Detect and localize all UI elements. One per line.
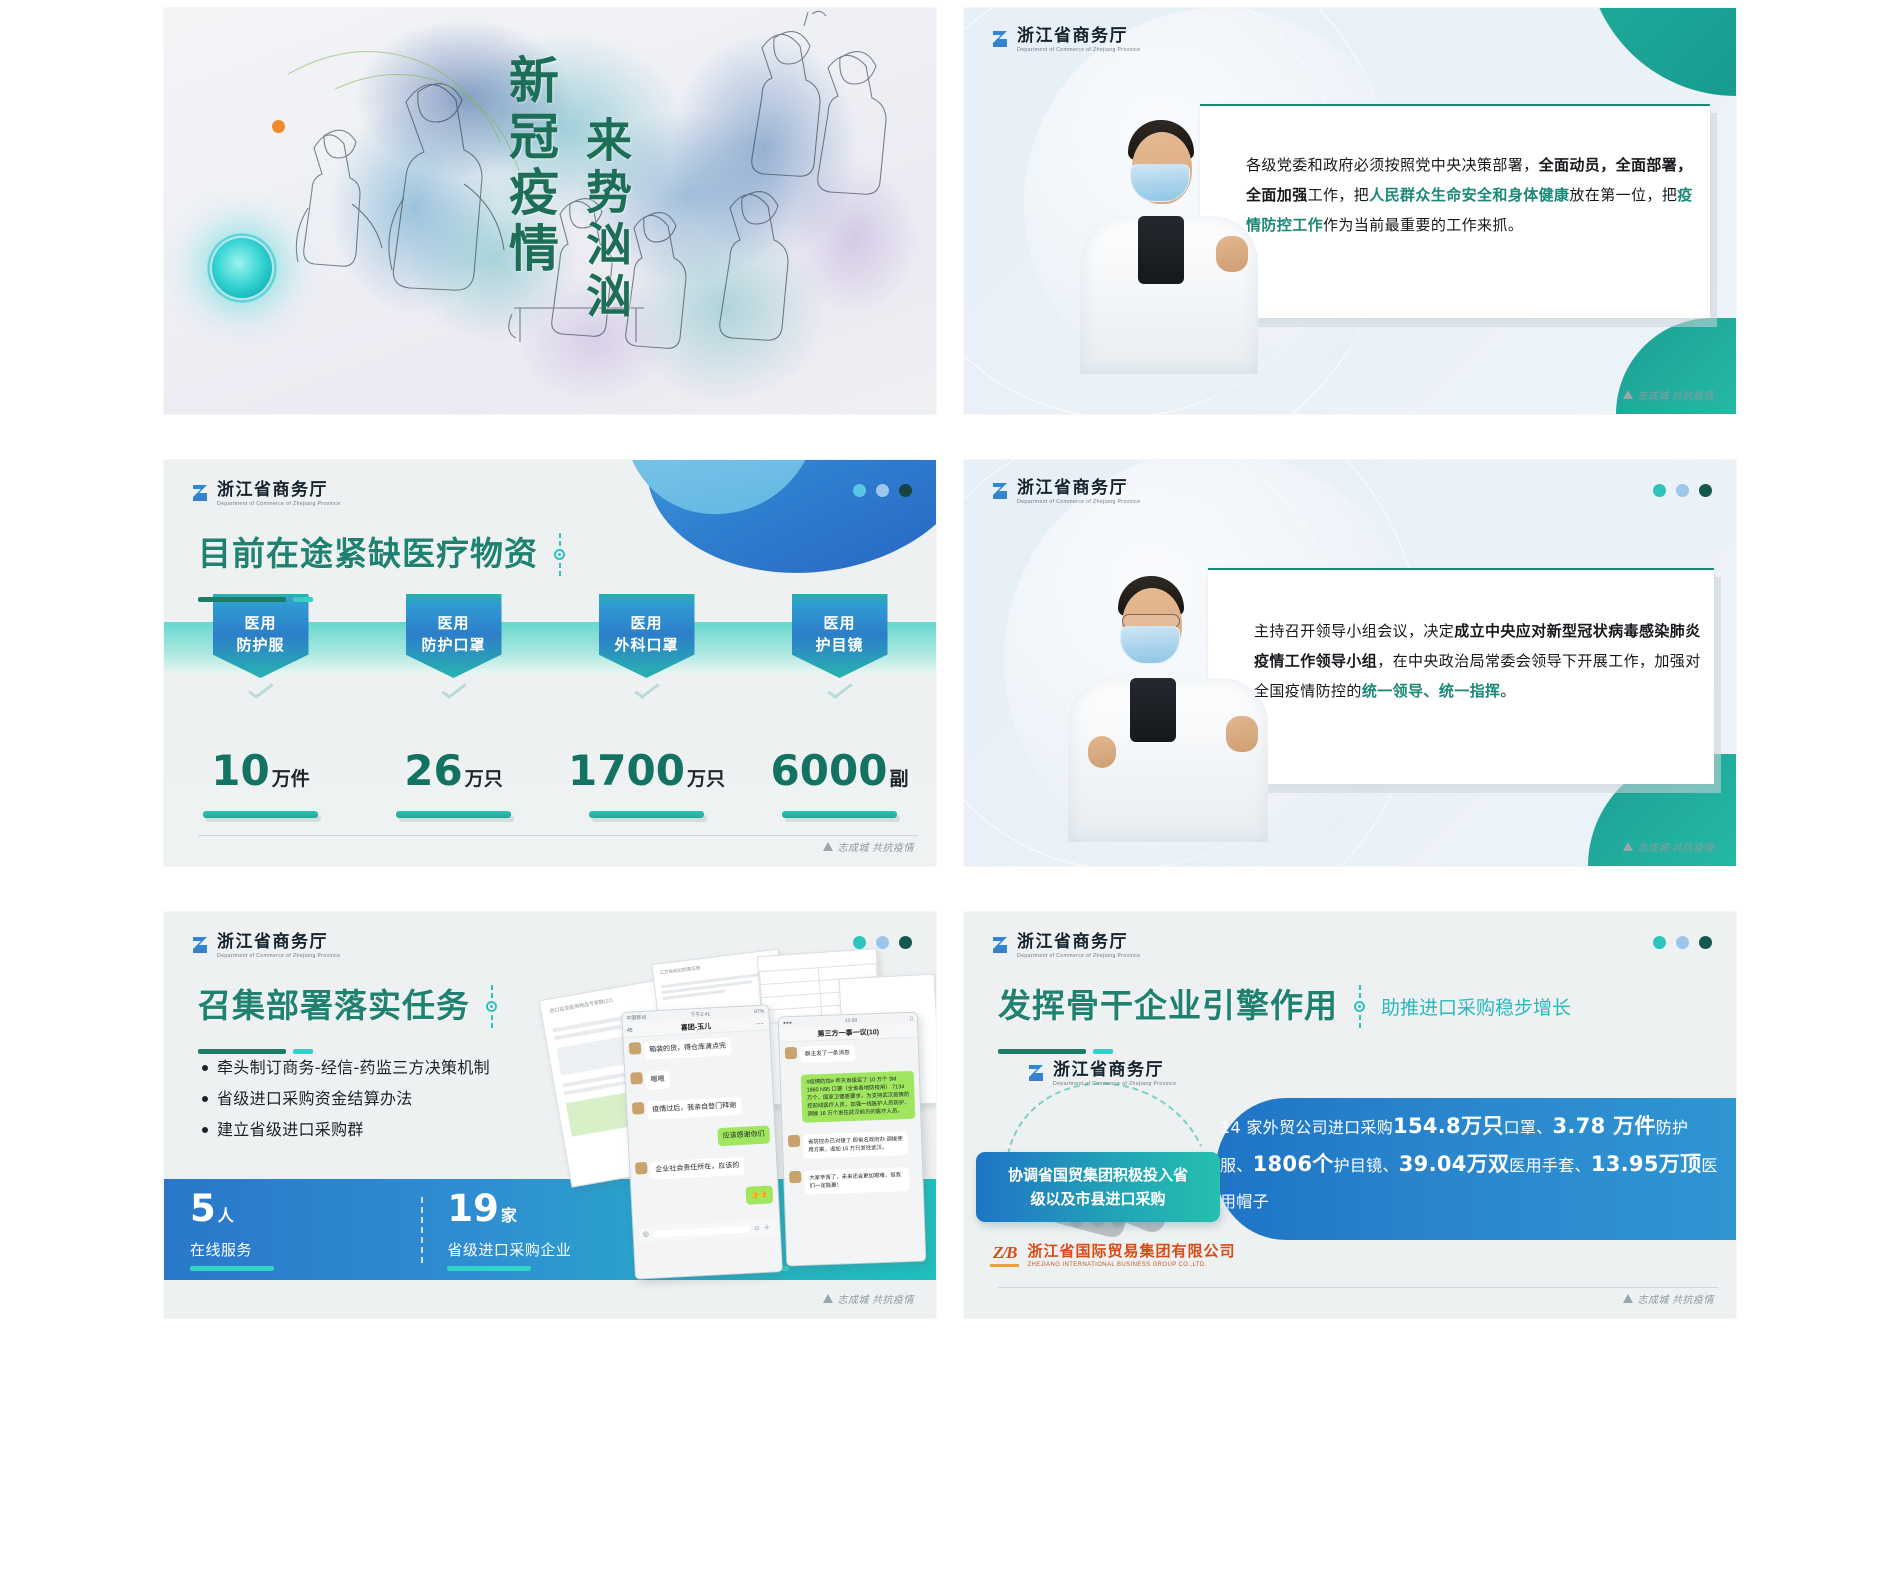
dot-3 [1699,936,1712,949]
logo-title-cn: 浙江省商务厅 [1017,932,1140,951]
footer-badge-text: 志成城 共抗疫情 [1638,1291,1715,1306]
stat-label: 在线服务 [190,1239,421,1260]
supply-tag-row: 医用 防护服 医用 防护口罩 医用 外科口罩 [164,594,936,694]
slide-tasks[interactable]: 浙江省商务厅 Department of Commerce of Zhejian… [164,912,936,1318]
tag-line1: 医用 [599,612,695,634]
chat-bubble: 箱装的货，得仓库清点完 [644,1037,732,1060]
text-segment: 154.8万只 [1393,1118,1504,1137]
list-item: #疫情防控# 昨天省级定了 10 万个 3M 1860 N95 口罩（全省各地防… [786,1071,916,1129]
text-segment: 各级党委和政府必须按照党中央决策部署， [1246,156,1539,174]
footer-badge-text: 志成城 共抗疫情 [838,839,915,854]
text-segment: 主持召开领导小组会议，决定 [1254,622,1454,640]
logo-title-cn: 浙江省商务厅 [1053,1060,1176,1079]
page-dots [853,484,912,497]
chat-bubble: 群主发了一条消息 [800,1045,855,1063]
page-title: 目前在途紧缺医疗物资 [198,522,565,602]
footer-badge: 志成城 共抗疫情 [823,1291,915,1306]
chat-contact-name: 第三方一事一议(10) [817,1026,879,1038]
footer-divider [998,1287,1718,1288]
footer-badge: 志成城 共抗疫情 [1623,839,1715,854]
logo-title-en: Department of Commerce of Zhejiang Provi… [1053,1081,1176,1087]
text-segment: 放在第一位，把 [1569,186,1677,204]
text-segment: 3.78 万件 [1552,1118,1655,1137]
text-segment: 人民群众生命安全和身体健康 [1369,186,1569,204]
chat-input-bar[interactable]: ◎ ☺ ＋ [638,1219,775,1242]
triangle-icon [1623,1294,1633,1303]
brand-logo-secondary: 浙江省商务厅 Department of Commerce of Zhejian… [1026,1060,1176,1087]
logo-title-en: Department of Commerce of Zhejiang Provi… [1017,499,1140,505]
chat-message-list: 群主发了一条消息 #疫情防控# 昨天省级定了 10 万个 3M 1860 N95… [780,1038,927,1267]
supply-stat: 10 万件 [164,748,357,818]
text-segment: 13.95万顶 [1591,1156,1702,1175]
footer-badge-text: 志成城 共抗疫情 [1638,387,1715,402]
text-segment: 工作，把 [1308,186,1370,204]
chevron-down-icon [441,679,467,698]
callout-line2: 级以及市县进口采购 [986,1187,1210,1211]
chat-message-list: 箱装的货，得仓库清点完 嗯嗯 疫情过后，我亲自登门拜谢 应该感谢你们 [623,1030,782,1279]
stats-panel-text: 14 家外贸公司进口采购154.8万只口罩、3.78 万件防护服、1806个护目… [1220,1108,1718,1220]
dot-1 [1653,484,1666,497]
triangle-icon [823,842,833,851]
stat-number: 5 [190,1189,216,1229]
callout-line1: 协调省国贸集团积极投入省 [986,1163,1210,1187]
list-item: 箱装的货，得仓库清点完 [629,1036,766,1067]
list-item: 省级进口采购资金结算办法 [200,1083,490,1114]
stat-unit: 家 [501,1196,517,1236]
more-options-icon[interactable]: ··· [756,1019,764,1028]
dot-3 [899,484,912,497]
logo-title-cn: 浙江省商务厅 [217,932,340,951]
footer-divider [198,835,918,836]
heading-text: 目前在途紧缺医疗物资 [198,535,538,573]
quote-text: 各级党委和政府必须按照党中央决策部署，全面动员，全面部署，全面加强工作，把人民群… [1246,150,1696,240]
status-carrier: 中国移动 [626,1014,646,1022]
supply-tag[interactable]: 医用 防护口罩 [357,594,550,694]
heading-underline [198,597,565,602]
stat-number: 10 [211,748,269,794]
chat-bubble: 疫情过后，我亲自登门拜谢 [647,1097,742,1120]
stat-underline [447,1266,531,1271]
chat-contact-name: 喜团-玉儿 [681,1021,712,1033]
zib-mark-icon: Z/B [990,1242,1019,1267]
chat-input[interactable] [653,1225,750,1237]
stat-unit: 人 [218,1196,234,1236]
heading-divider-icon [1354,974,1365,1038]
text-segment: 统一领导、统一指挥 [1362,682,1501,700]
slide-quote-xi[interactable]: 浙江省商务厅 Department of Commerce of Zhejian… [964,8,1736,414]
footer-badge: 志成城 共抗疫情 [1623,1291,1715,1306]
logo-title-en: Department of Commerce of Zhejiang Provi… [217,501,340,507]
task-bullet-list: 牵头制订商务-经信-药监三方决策机制 省级进口采购资金结算办法 建立省级进口采购… [200,1052,490,1145]
screenshot-stack[interactable]: 进口应急医用物品专家群(22) 三方会商机制落实表 [546,950,936,1280]
status-time: 下午2:41 [690,1010,710,1018]
footer-badge-text: 志成城 共抗疫情 [838,1291,915,1306]
brand-logo: 浙江省商务厅 Department of Commerce of Zhejian… [190,480,340,507]
zhejiang-commerce-logo-icon [990,480,1010,502]
text-segment: 作为当前最重要的工作来抓。 [1323,216,1523,234]
list-item: 大家辛苦了，未来还会更加艰难，但我们一定能赢！ [789,1167,918,1201]
chat-bubble: 企业社会责任所在，应该的 [650,1157,745,1180]
supply-tag[interactable]: 医用 防护服 [164,594,357,694]
dot-1 [1653,936,1666,949]
stat-underline [589,811,704,818]
chat-screenshot-main[interactable]: 中国移动 下午2:41 97% 45 喜团-玉儿 ··· 箱装的货，得仓库清点完 [621,1004,783,1279]
zhejiang-commerce-logo-icon [990,934,1010,956]
emoji-icon[interactable]: ☺ [753,1225,761,1232]
stat-unit: 万只 [465,756,503,802]
chat-bubble: 嗯嗯 [645,1071,670,1090]
stat-number: 6000 [771,748,888,794]
voice-icon[interactable]: ◎ [643,1230,650,1238]
logo-title-en: Department of Commerce of Zhejiang Provi… [217,953,340,959]
dot-3 [899,936,912,949]
tag-line1: 医用 [792,612,888,634]
slide-quote-li[interactable]: 浙江省商务厅 Department of Commerce of Zhejian… [964,460,1736,866]
dot-2 [1676,936,1689,949]
dot-1 [853,936,866,949]
text-segment: 护目镜、 [1334,1156,1399,1175]
back-button[interactable]: 45 [627,1027,633,1033]
dot-2 [876,484,889,497]
avatar [789,1171,801,1183]
heading-divider-icon [554,522,565,586]
tag-line2: 防护口罩 [406,634,502,656]
orange-dot-icon [272,120,285,133]
dot-2 [1676,484,1689,497]
tag-line2: 护目镜 [792,634,888,656]
logo-title-en: Department of Commerce of Zhejiang Provi… [1017,953,1140,959]
list-item: 嗯嗯 [630,1066,767,1097]
list-item: 👍👍 [637,1185,774,1216]
supply-stat: 26 万只 [357,748,550,818]
partner-logo-cn: 浙江省国际贸易集团有限公司 [1027,1240,1235,1261]
page-dots [853,936,912,949]
stat-underline [782,811,897,818]
text-segment: 口罩、 [1504,1118,1553,1137]
supply-tag[interactable]: 医用 护目镜 [743,594,936,694]
chat-bubble: 大家辛苦了，未来还会更加艰难，但我们一定能赢！ [804,1167,910,1195]
status-battery: 97% [754,1008,764,1015]
slide-engine[interactable]: 浙江省商务厅 Department of Commerce of Zhejian… [964,912,1736,1318]
logo-title-cn: 浙江省商务厅 [1017,26,1140,45]
logo-title-en: Department of Commerce of Zhejiang Provi… [1017,47,1140,53]
supply-stat-row: 10 万件 26 万只 1700 万只 [164,748,936,818]
chevron-down-icon [248,679,274,698]
logo-title-cn: 浙江省商务厅 [217,480,340,499]
corner-accent-top-right [1586,8,1736,96]
list-item: 疫情过后，我亲自登门拜谢 [632,1096,769,1127]
brand-logo: 浙江省商务厅 Department of Commerce of Zhejian… [990,932,1140,959]
virus-icon [212,238,272,298]
dot-2 [876,936,889,949]
partner-logo-en: ZHEJIANG INTERNATIONAL BUSINESS GROUP CO… [1027,1262,1235,1268]
tag-line1: 医用 [406,612,502,634]
dot-3 [1699,484,1712,497]
footer-badge: 志成城 共抗疫情 [1623,387,1715,402]
slide-supplies[interactable]: 浙江省商务厅 Department of Commerce of Zhejian… [164,460,936,866]
zhejiang-commerce-logo-icon [1026,1062,1046,1084]
text-segment: 。 [1500,682,1515,700]
text-segment: 医用手套、 [1509,1156,1591,1175]
supply-tag[interactable]: 医用 外科口罩 [550,594,743,694]
list-item: 牵头制订商务-经信-药监三方决策机制 [200,1052,490,1083]
page-title: 召集部署落实任务 [198,974,497,1054]
callout-box: 协调省国贸集团积极投入省 级以及市县进口采购 [976,1152,1220,1222]
heading-underline [198,1049,497,1054]
avatar [630,1072,643,1085]
heading-text: 召集部署落实任务 [198,987,470,1025]
speaker-portrait [1074,120,1264,370]
brand-logo: 浙江省商务厅 Department of Commerce of Zhejian… [990,26,1140,53]
stat-cell: 5 人 在线服务 [164,1189,421,1271]
speaker-portrait [1068,576,1278,842]
zhejiang-commerce-logo-icon [190,482,210,504]
heading-text: 发挥骨干企业引擎作用 [998,987,1338,1025]
stat-number: 19 [447,1189,499,1229]
subheading-text: 助推进口采购稳步增长 [1381,993,1571,1020]
quote-text: 主持召开领导小组会议，决定成立中央应对新型冠状病毒感染肺炎疫情工作领导小组，在中… [1254,616,1702,706]
brand-logo: 浙江省商务厅 Department of Commerce of Zhejian… [990,478,1140,505]
avatar [635,1162,648,1175]
plus-icon[interactable]: ＋ [763,1223,771,1233]
stat-number: 26 [404,748,462,794]
cover-title-line1: 新冠疫情 [494,54,566,278]
supply-stat: 1700 万只 [550,748,743,818]
stat-unit: 万只 [687,756,725,802]
avatar [632,1102,645,1115]
chevron-down-icon [634,679,660,698]
list-item: 企业社会责任所在，应该的 [635,1155,772,1186]
heading-underline [998,1049,1571,1054]
stat-number: 1700 [568,748,685,794]
list-item: 应该感谢你们 [633,1125,770,1156]
triangle-icon [1623,390,1633,399]
footer-badge: 志成城 共抗疫情 [823,839,915,854]
list-item: 群主发了一条消息 [785,1043,914,1069]
chat-bubble: 省防控办已对接了 即省名政府办 调拨使用方案，追加 16 万只发往武汉。 [803,1131,909,1159]
slide-cover[interactable]: 新冠疫情 来势汹汹 [164,8,936,414]
stat-underline [203,811,318,818]
tag-line2: 外科口罩 [599,634,695,656]
stat-underline [190,1266,274,1271]
face-mask-icon [1120,626,1180,664]
tag-line2: 防护服 [213,634,309,656]
stat-underline [396,811,511,818]
supply-stat: 6000 副 [743,748,936,818]
avatar [788,1135,800,1147]
tag-line1: 医用 [213,612,309,634]
heading-divider-icon [486,974,497,1038]
partner-logo: Z/B 浙江省国际贸易集团有限公司 ZHEJIANG INTERNATIONAL… [990,1240,1235,1268]
text-segment: 39.04万双 [1399,1156,1510,1175]
page-title: 发挥骨干企业引擎作用 助推进口采购稳步增长 [998,974,1571,1054]
chevron-down-icon [827,679,853,698]
triangle-icon [1623,842,1633,851]
zhejiang-commerce-logo-icon [190,934,210,956]
text-segment: 1806个 [1253,1156,1334,1175]
triangle-icon [823,1294,833,1303]
brand-logo: 浙江省商务厅 Department of Commerce of Zhejian… [190,932,340,959]
page-dots [1653,484,1712,497]
zhejiang-commerce-logo-icon [990,28,1010,50]
chat-screenshot-secondary[interactable]: ●●●12:00▯ 第三方一事一议(10) 群主发了一条消息 #疫情防控# 昨天… [778,1012,927,1267]
chat-bubble-own: 应该感谢你们 [717,1125,770,1146]
stat-unit: 副 [889,756,908,802]
stat-unit: 万件 [272,756,310,802]
cover-title-line2: 来势汹汹 [572,116,638,324]
chat-bubble-own: #疫情防控# 昨天省级定了 10 万个 3M 1860 N95 口罩（全省各地防… [801,1071,915,1123]
list-item: 省防控办已对接了 即省名政府办 调拨使用方案，追加 16 万只发往武汉。 [788,1131,917,1165]
list-item: 建立省级进口采购群 [200,1114,490,1145]
avatar [629,1042,642,1055]
dot-1 [853,484,866,497]
page-dots [1653,936,1712,949]
footer-badge-text: 志成城 共抗疫情 [1638,839,1715,854]
avatar [785,1047,797,1059]
text-segment: 14 家外贸公司进口采购 [1220,1118,1393,1137]
slide-deck: 新冠疫情 来势汹汹 浙江省商务厅 Department of Commerce … [0,0,1900,1577]
logo-title-cn: 浙江省商务厅 [1017,478,1140,497]
chat-bubble-own: 👍👍 [745,1185,773,1204]
